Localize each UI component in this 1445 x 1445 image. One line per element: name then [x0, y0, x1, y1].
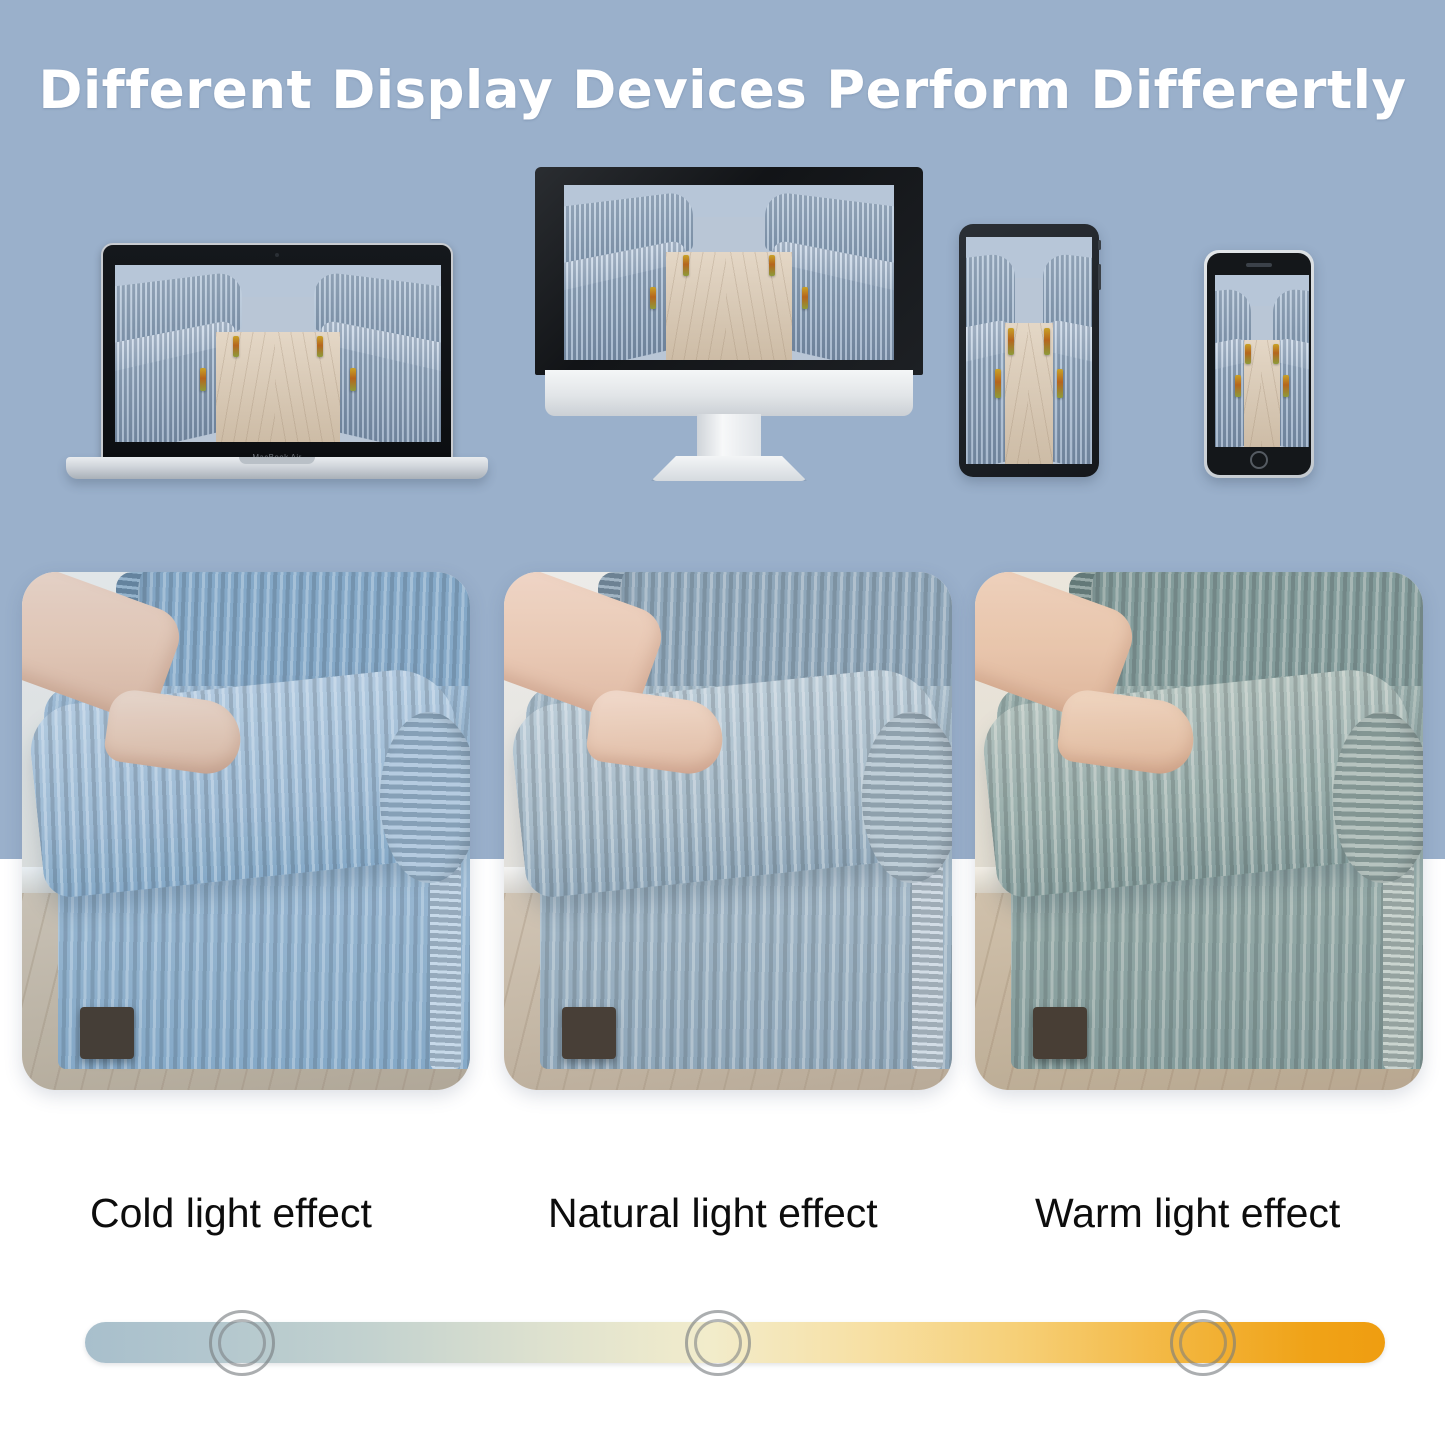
caption-cold-light: Cold light effect [90, 1186, 372, 1240]
slider-handle-warm[interactable] [1170, 1310, 1236, 1376]
color-temperature-slider[interactable] [85, 1322, 1385, 1363]
monitor-bezel [535, 167, 923, 375]
screen-image-left-half [564, 185, 729, 360]
comparison-panel-natural [504, 572, 952, 1090]
phone-bezel [1207, 253, 1311, 475]
tablet-volume-button [1098, 264, 1101, 290]
sofa-photo-cold [22, 572, 470, 1090]
caption-natural-light: Natural light effect [548, 1186, 878, 1240]
tablet-power-button [1098, 240, 1101, 250]
tablet-bezel [959, 224, 1099, 477]
monitor-stand-base [651, 456, 807, 481]
screen-image-right-half [1262, 275, 1309, 447]
page-title: Different Display Devices Perform Differ… [0, 60, 1445, 121]
comparison-panel-warm [975, 572, 1423, 1090]
screen-image-left-half [1215, 275, 1262, 447]
screen-image-right-half [1029, 237, 1092, 464]
sofa-photo-natural [504, 572, 952, 1090]
comparison-panel-cold [22, 572, 470, 1090]
screen-image-right-half [278, 265, 441, 442]
slider-handle-natural[interactable] [685, 1310, 751, 1376]
phone-mockup [1204, 250, 1314, 478]
screen-image-right-half [729, 185, 894, 360]
monitor-screen [564, 185, 894, 360]
laptop-camera-icon [275, 253, 279, 257]
phone-home-button-icon [1250, 451, 1268, 469]
screen-image-left-half [966, 237, 1029, 464]
sofa-photo-warm [975, 572, 1423, 1090]
tablet-screen [966, 237, 1092, 464]
slider-handle-cold[interactable] [209, 1310, 275, 1376]
monitor-chin [545, 370, 913, 416]
laptop-trackpad-notch [239, 457, 315, 464]
caption-warm-light: Warm light effect [1035, 1186, 1340, 1240]
monitor-stand-neck [697, 414, 761, 460]
screen-image-left-half [115, 265, 278, 442]
laptop-screen [115, 265, 441, 442]
phone-screen [1215, 275, 1309, 447]
tablet-mockup [959, 224, 1099, 477]
laptop-lid [101, 243, 453, 461]
laptop-mockup: MacBook Air [66, 243, 488, 493]
phone-speaker-icon [1246, 263, 1272, 267]
monitor-mockup [535, 167, 923, 493]
